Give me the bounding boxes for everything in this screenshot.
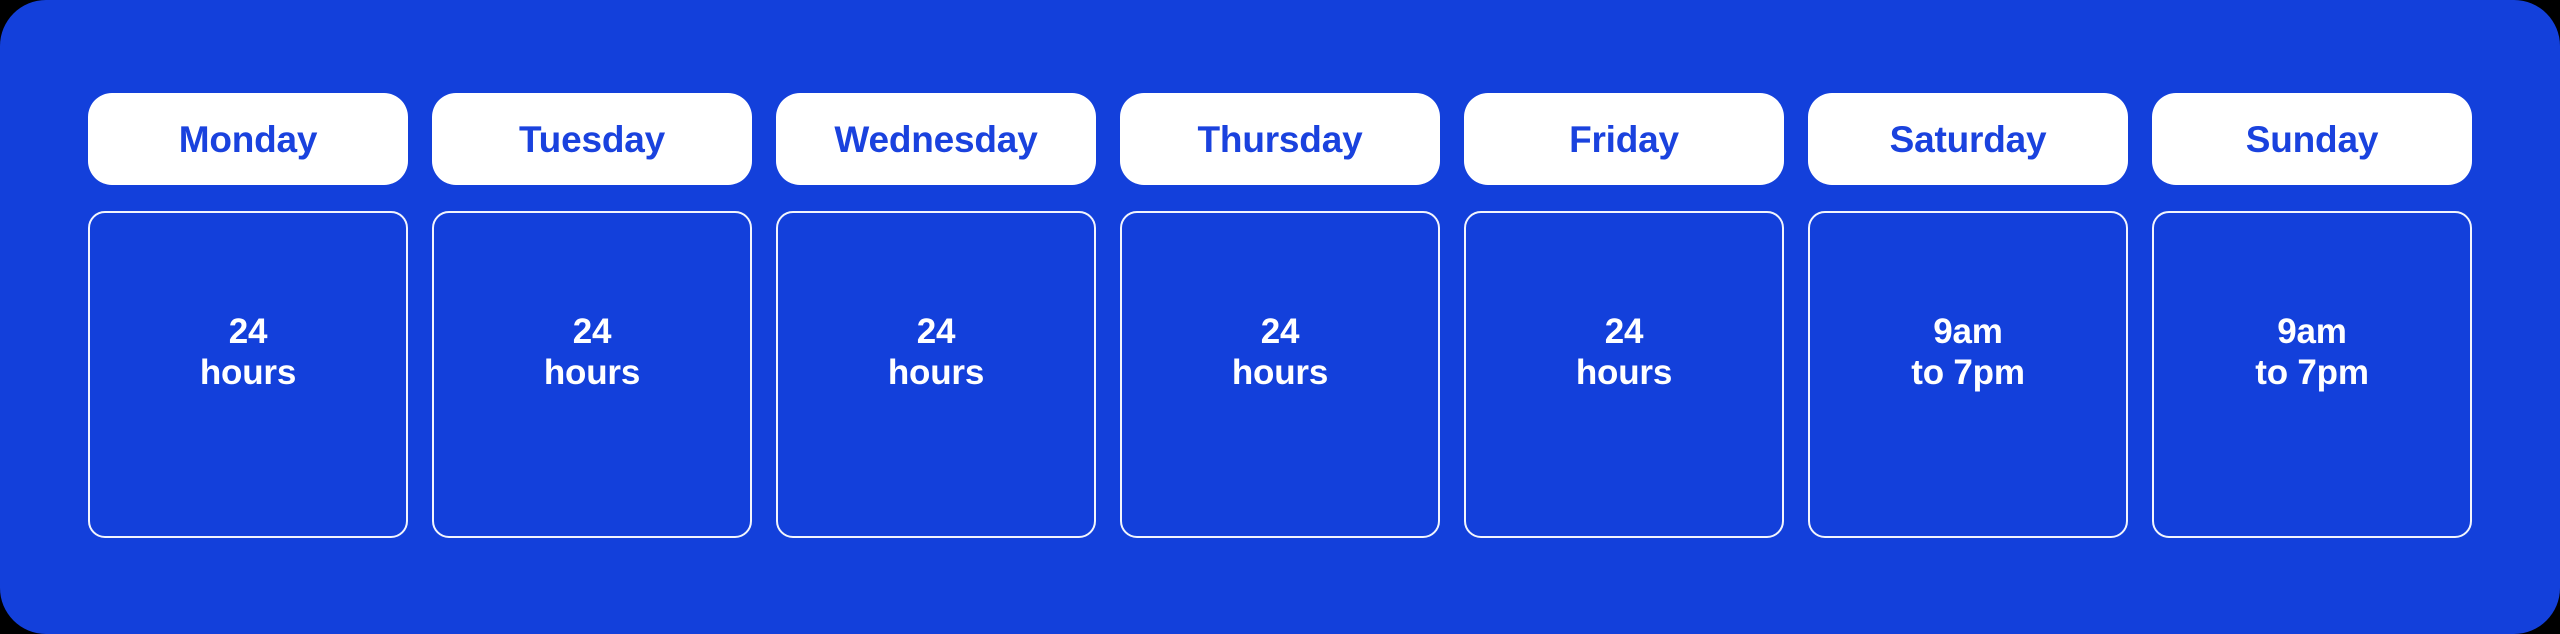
day-pill-sunday[interactable]: Sunday [2152, 93, 2472, 185]
day-column-friday: Friday 24 hours [1464, 93, 1784, 538]
hours-line-2-thursday: hours [1232, 353, 1328, 394]
weekly-schedule-grid: Monday 24 hours Tuesday 24 hours Wedne [88, 93, 2472, 538]
day-pill-saturday[interactable]: Saturday [1808, 93, 2128, 185]
hours-line-1-saturday: 9am [1933, 312, 2002, 353]
hours-line-2-wednesday: hours [888, 353, 984, 394]
hours-line-1-monday: 24 [229, 312, 268, 353]
day-label-tuesday: Tuesday [519, 121, 665, 158]
day-column-thursday: Thursday 24 hours [1120, 93, 1440, 538]
hours-card-monday[interactable]: 24 hours [88, 211, 408, 538]
hours-line-2-saturday: to 7pm [1911, 353, 2025, 394]
opening-hours-widget: Monday 24 hours Tuesday 24 hours Wedne [0, 0, 2560, 634]
hours-line-1-wednesday: 24 [917, 312, 956, 353]
day-label-saturday: Saturday [1890, 121, 2047, 158]
hours-card-sunday[interactable]: 9am to 7pm [2152, 211, 2472, 538]
day-column-saturday: Saturday 9am to 7pm [1808, 93, 2128, 538]
hours-line-2-sunday: to 7pm [2255, 353, 2369, 394]
hours-line-1-tuesday: 24 [573, 312, 612, 353]
day-pill-friday[interactable]: Friday [1464, 93, 1784, 185]
day-column-wednesday: Wednesday 24 hours [776, 93, 1096, 538]
hours-line-1-friday: 24 [1605, 312, 1644, 353]
hours-line-2-tuesday: hours [544, 353, 640, 394]
day-label-friday: Friday [1569, 121, 1679, 158]
day-pill-monday[interactable]: Monday [88, 93, 408, 185]
day-label-thursday: Thursday [1198, 121, 1363, 158]
hours-line-2-friday: hours [1576, 353, 1672, 394]
hours-card-wednesday[interactable]: 24 hours [776, 211, 1096, 538]
day-column-sunday: Sunday 9am to 7pm [2152, 93, 2472, 538]
schedule-panel: Monday 24 hours Tuesday 24 hours Wedne [0, 0, 2560, 634]
day-label-monday: Monday [179, 121, 318, 158]
hours-line-2-monday: hours [200, 353, 296, 394]
hours-card-tuesday[interactable]: 24 hours [432, 211, 752, 538]
day-column-monday: Monday 24 hours [88, 93, 408, 538]
day-label-sunday: Sunday [2246, 121, 2378, 158]
hours-line-1-sunday: 9am [2277, 312, 2346, 353]
day-pill-wednesday[interactable]: Wednesday [776, 93, 1096, 185]
hours-line-1-thursday: 24 [1261, 312, 1300, 353]
hours-card-thursday[interactable]: 24 hours [1120, 211, 1440, 538]
day-column-tuesday: Tuesday 24 hours [432, 93, 752, 538]
hours-card-saturday[interactable]: 9am to 7pm [1808, 211, 2128, 538]
day-pill-tuesday[interactable]: Tuesday [432, 93, 752, 185]
day-label-wednesday: Wednesday [834, 121, 1037, 158]
day-pill-thursday[interactable]: Thursday [1120, 93, 1440, 185]
hours-card-friday[interactable]: 24 hours [1464, 211, 1784, 538]
